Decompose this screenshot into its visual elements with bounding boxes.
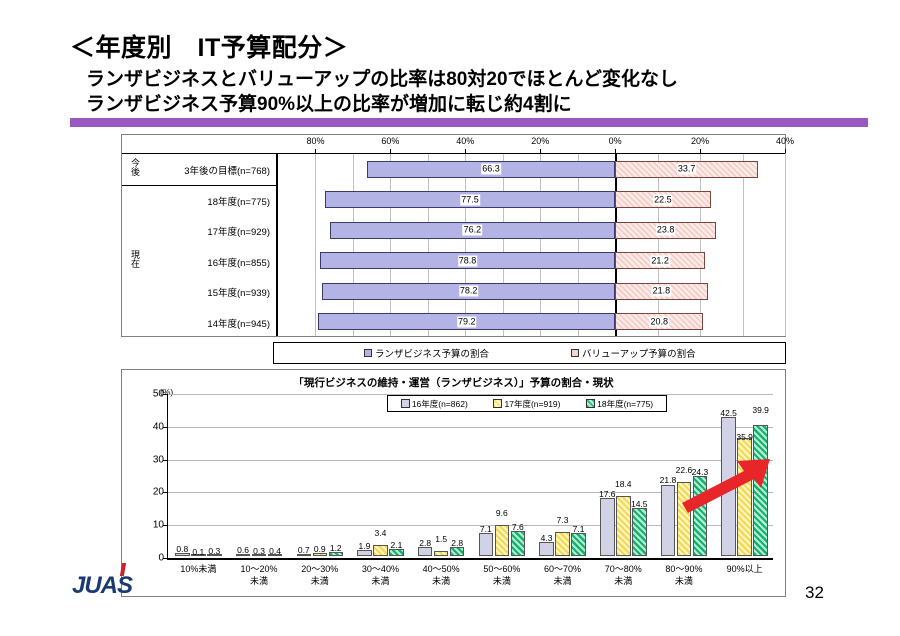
top-chart-axis: 80%60%40%20%0%20%40%: [122, 135, 785, 153]
bottom-chart-category-line: 90%以上: [727, 563, 763, 575]
title-divider-bar: [70, 118, 868, 127]
top-chart-gridline-minor: [428, 154, 429, 336]
bottom-chart-bar-value: 0.8: [176, 544, 188, 554]
bottom-chart-bar-value: 7.1: [480, 524, 492, 534]
juas-logo: JUAS: [72, 572, 132, 600]
top-chart-bar-value: 20.8: [650, 316, 670, 327]
bottom-chart-bar: [616, 496, 631, 556]
bottom-chart-category-label: 30～40%未満: [362, 563, 399, 587]
bottom-chart-title: 「現行ビジネスの維持・運営（ランザビジネス）」予算の割合・現状: [122, 375, 785, 390]
top-chart-row-labels: 3年後の目標(n=768)18年度(n=775)17年度(n=929)16年度(…: [122, 154, 278, 336]
bottom-chart-category-line: 20～30%: [301, 563, 338, 575]
top-chart-bar-value: 21.2: [650, 255, 670, 266]
top-chart-gridline-minor: [743, 154, 744, 336]
top-chart-gridline-minor: [658, 154, 659, 336]
legend-swatch-icon: [571, 349, 579, 357]
bottom-chart-bar-value: 1.5: [435, 534, 447, 544]
bottom-chart-bar-value: 21.8: [660, 475, 677, 485]
subtitle-line-1: ランザビジネスとバリューアップの比率は80対20でほとんど変化なし: [86, 64, 678, 91]
legend-swatch-icon: [401, 399, 410, 408]
bottom-chart-bar-value: 2.8: [451, 538, 463, 548]
top-chart-bar-value: 21.8: [652, 286, 672, 297]
bottom-chart-y-tick-label: 50: [144, 389, 164, 400]
top-chart-bar-value: 33.7: [677, 164, 697, 175]
top-chart-row-label: 16年度(n=855): [207, 255, 270, 269]
legend-item-value-up: バリューアップ予算の割合: [571, 346, 696, 360]
top-chart-zero-line: [615, 154, 617, 336]
bottom-chart-gridline: [168, 427, 773, 428]
legend-label: 17年度(n=919): [504, 398, 560, 410]
legend-label: 18年度(n=775): [597, 398, 653, 410]
legend-swatch-icon: [586, 399, 595, 408]
top-chart-tick-label: 0%: [609, 136, 622, 146]
juas-logo-text: JUAS: [72, 572, 132, 599]
bottom-chart-x-axis: [167, 558, 773, 560]
bottom-chart-bar: [600, 498, 615, 556]
top-chart-gridline-minor: [353, 154, 354, 336]
legend-item-fy18: 18年度(n=775): [586, 398, 653, 410]
top-chart-gridline: [315, 154, 316, 336]
bottom-chart-category-line: 未満: [241, 575, 278, 587]
bottom-chart-bar-value: 0.4: [269, 546, 281, 556]
top-chart-bar-value: 78.2: [459, 286, 479, 297]
top-chart-group-divider: [122, 185, 276, 186]
top-chart-tick-label: 60%: [381, 136, 399, 146]
bottom-chart-bar-value: 18.4: [615, 479, 632, 489]
subtitle-line-2: ランザビジネス予算90%以上の比率が増加に転じ約4割に: [86, 89, 572, 116]
bottom-chart-category-line: 未満: [605, 575, 642, 587]
top-chart-tick-label: 20%: [691, 136, 709, 146]
bottom-chart-bar-value: 1.9: [359, 541, 371, 551]
bottom-chart-bar-value: 35.9: [736, 432, 753, 442]
top-chart-group-label-current: 現在: [126, 250, 142, 268]
bottom-chart-bar-value: 0.6: [237, 545, 249, 555]
bottom-chart-gridline: [168, 460, 773, 461]
top-chart-plot-area: 66.333.777.522.576.223.878.821.278.221.8…: [278, 154, 785, 336]
bottom-chart-bar: [418, 547, 433, 556]
legend-swatch-icon: [493, 399, 502, 408]
bottom-chart-category-line: 未満: [301, 575, 338, 587]
top-chart-legend: ランザビジネス予算の割合 バリューアップ予算の割合: [273, 342, 786, 364]
legend-swatch-icon: [364, 349, 372, 357]
top-chart-row-label: 14年度(n=945): [207, 316, 270, 330]
bottom-chart-category-line: 70～80%: [605, 563, 642, 575]
bottom-chart-bar-value: 42.5: [720, 408, 737, 418]
bottom-chart-y-axis: [167, 394, 168, 558]
top-chart-bar-value: 76.2: [463, 225, 483, 236]
top-chart-tick-label: 20%: [531, 136, 549, 146]
bottom-chart-category-line: 80～90%: [665, 563, 702, 575]
bottom-chart-bar: [555, 532, 570, 556]
bottom-chart-bar-value: 0.9: [314, 544, 326, 554]
page-title: ＜年度別 IT予算配分＞: [70, 28, 348, 64]
bottom-chart-category-label: 50～60%未満: [483, 563, 520, 587]
bottom-chart-bar: [737, 438, 752, 556]
bottom-chart-bar: [434, 551, 449, 556]
bottom-chart-bar: [450, 547, 465, 556]
bottom-chart-panel: 「現行ビジネスの維持・運営（ランザビジネス）」予算の割合・現状 (%) 0102…: [121, 369, 786, 597]
bottom-chart-y-tick-label: 30: [144, 454, 164, 465]
bottom-chart-bar-value: 2.1: [391, 540, 403, 550]
bottom-chart-bar-value: 0.7: [298, 545, 310, 555]
top-chart-gridline: [700, 154, 701, 336]
bottom-chart-category-line: 未満: [544, 575, 581, 587]
legend-item-run-the-business: ランザビジネス予算の割合: [364, 346, 489, 360]
bottom-chart-bar-value: 3.4: [375, 528, 387, 538]
bottom-chart-bar-value: 17.6: [599, 489, 616, 499]
bottom-chart-category-label: 70～80%未満: [605, 563, 642, 587]
bottom-chart-bar: [511, 531, 526, 556]
bottom-chart-bar: [632, 508, 647, 556]
bottom-chart-bar: [721, 417, 736, 556]
bottom-chart-category-line: 未満: [423, 575, 460, 587]
top-chart-panel: 80%60%40%20%0%20%40% 3年後の目標(n=768)18年度(n…: [121, 134, 786, 337]
top-chart-gridline: [785, 154, 786, 336]
bottom-chart-category-line: 40～50%: [423, 563, 460, 575]
top-chart-bar-value: 77.5: [460, 194, 480, 205]
top-chart-bar-value: 78.8: [458, 255, 478, 266]
bottom-chart-bar: [389, 549, 404, 556]
bottom-chart-bar-value: 0.1: [192, 547, 204, 557]
bottom-chart-bar-value: 2.8: [419, 538, 431, 548]
bottom-chart-bar: [753, 425, 768, 556]
bottom-chart-bar: [571, 533, 586, 556]
bottom-chart-bar: [693, 476, 708, 556]
bottom-chart-bar-value: 39.9: [752, 405, 769, 415]
top-chart-row-label: 18年度(n=775): [207, 194, 270, 208]
bottom-chart-legend: 16年度(n=862) 17年度(n=919) 18年度(n=775): [387, 395, 667, 412]
bottom-chart-y-tick-label: 40: [144, 421, 164, 432]
top-chart-tick-label: 40%: [776, 136, 794, 146]
bottom-chart-category-label: 80～90%未満: [665, 563, 702, 587]
bottom-chart-bar: [661, 485, 676, 557]
legend-label: バリューアップ予算の割合: [582, 346, 696, 360]
top-chart-row-label: 17年度(n=929): [207, 224, 270, 238]
top-chart-gridline: [540, 154, 541, 336]
bottom-chart-category-label: 10～20%未満: [241, 563, 278, 587]
bottom-chart-bar-value: 22.6: [676, 465, 693, 475]
bottom-chart-bar: [479, 533, 494, 556]
bottom-chart-bar-value: 24.3: [692, 467, 709, 477]
top-chart-group-label-future: 今後: [126, 158, 142, 176]
top-chart-bar-value: 22.5: [653, 194, 673, 205]
bottom-chart-category-line: 未満: [483, 575, 520, 587]
legend-label: ランザビジネス予算の割合: [375, 346, 489, 360]
bottom-chart-y-tick-label: 0: [144, 553, 164, 564]
top-chart-gridline: [465, 154, 466, 336]
bottom-chart-category-label: 20～30%未満: [301, 563, 338, 587]
top-chart-tick-mark: [785, 149, 786, 153]
bottom-chart-category-label: 10%未満: [180, 563, 216, 575]
bottom-chart-bar-value: 9.6: [496, 508, 508, 518]
bottom-chart-bar: [495, 525, 510, 556]
legend-item-fy16: 16年度(n=862): [401, 398, 468, 410]
page-number: 32: [805, 583, 824, 603]
bottom-chart-category-label: 40～50%未満: [423, 563, 460, 587]
legend-label: 16年度(n=862): [412, 398, 468, 410]
bottom-chart-category-line: 50～60%: [483, 563, 520, 575]
bottom-chart-bar-value: 7.1: [573, 524, 585, 534]
top-chart-bar-value: 66.3: [481, 164, 501, 175]
bottom-chart-bar-value: 4.3: [541, 533, 553, 543]
top-chart-row-label: 3年後の目標(n=768): [184, 163, 270, 177]
top-chart-bar-value: 23.8: [656, 225, 676, 236]
bottom-chart-bar-value: 14.5: [631, 499, 648, 509]
bottom-chart-category-line: 30～40%: [362, 563, 399, 575]
top-chart-gridline-minor: [578, 154, 579, 336]
bottom-chart-category-line: 60～70%: [544, 563, 581, 575]
bottom-chart-bar-value: 1.2: [330, 543, 342, 553]
bottom-chart-y-tick-label: 10: [144, 520, 164, 531]
legend-item-fy17: 17年度(n=919): [493, 398, 560, 410]
bottom-chart-bar: [677, 482, 692, 556]
bottom-chart-bar-value: 7.6: [512, 522, 524, 532]
bottom-chart-bar-value: 0.3: [253, 546, 265, 556]
top-chart-gridline-minor: [503, 154, 504, 336]
bottom-chart-category-line: 未満: [362, 575, 399, 587]
top-chart-row-label: 15年度(n=939): [207, 285, 270, 299]
bottom-chart-y-tick-label: 20: [144, 487, 164, 498]
top-chart-tick-label: 40%: [456, 136, 474, 146]
top-chart-gridline: [390, 154, 391, 336]
bottom-chart-category-line: 10～20%: [241, 563, 278, 575]
bottom-chart-bar-value: 0.3: [208, 546, 220, 556]
top-chart-bar-value: 79.2: [457, 316, 477, 327]
bottom-chart-bar-value: 7.3: [557, 515, 569, 525]
slide-canvas: ＜年度別 IT予算配分＞ ランザビジネスとバリューアップの比率は80対20でほと…: [0, 0, 900, 636]
bottom-chart-bar: [539, 542, 554, 556]
bottom-chart-category-line: 10%未満: [180, 563, 216, 575]
bottom-chart-bar: [373, 545, 388, 556]
bottom-chart-category-label: 90%以上: [727, 563, 763, 575]
bottom-chart-category-label: 60～70%未満: [544, 563, 581, 587]
bottom-chart-category-line: 未満: [665, 575, 702, 587]
top-chart-tick-label: 80%: [306, 136, 324, 146]
